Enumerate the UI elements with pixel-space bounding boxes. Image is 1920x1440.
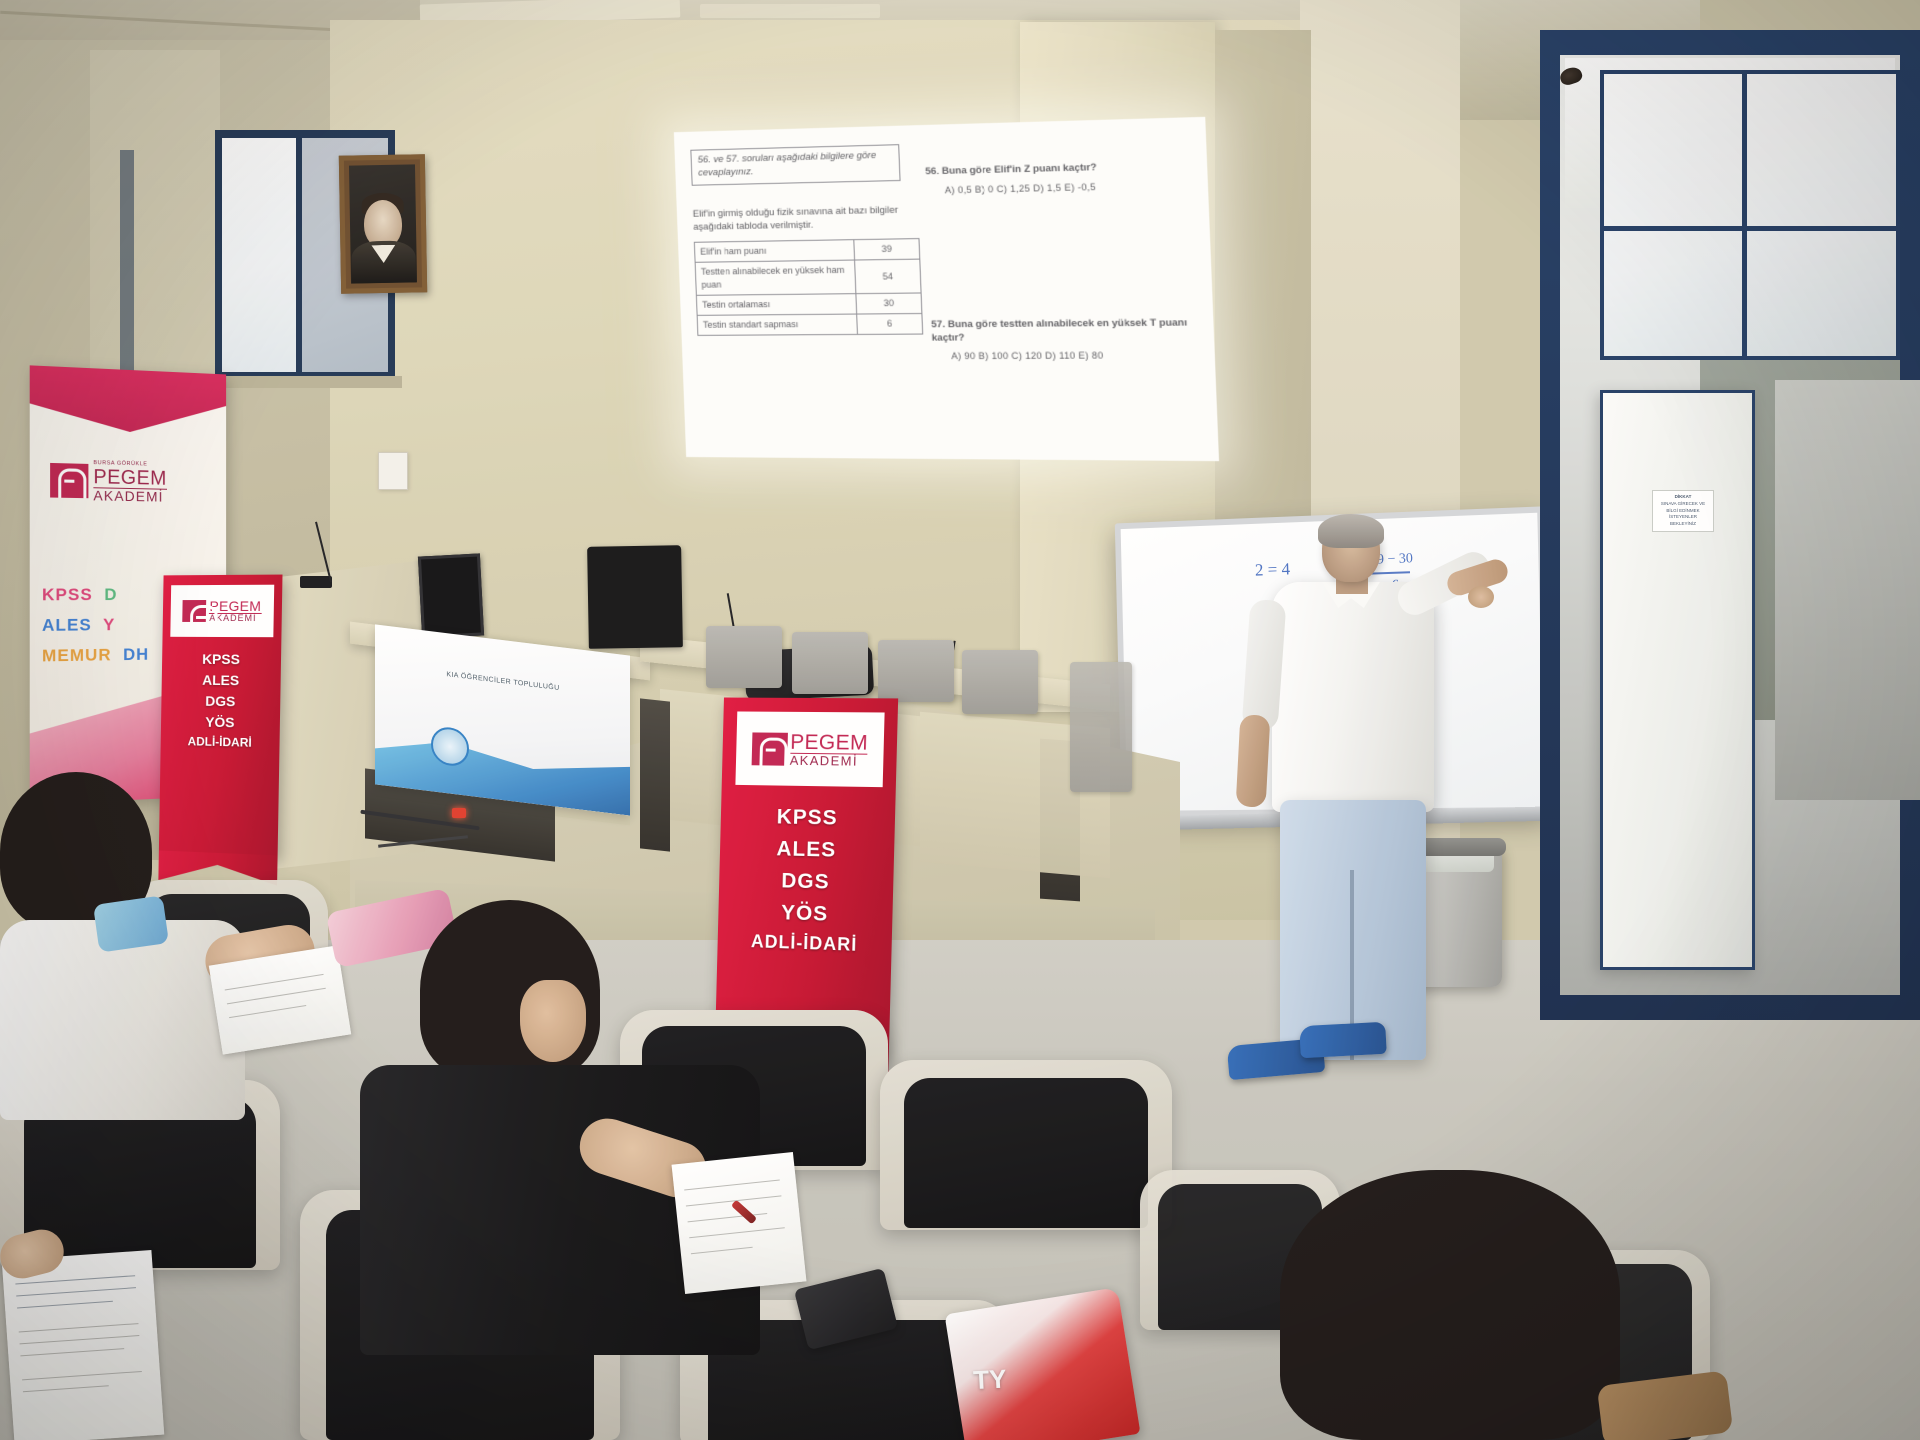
window-mullion [1742,74,1747,356]
snack-bag: TY [945,1287,1141,1440]
power-indicator [452,808,466,818]
corridor-wall [1775,380,1920,800]
course-item: D [104,585,117,604]
pegem-a-icon [50,463,88,498]
chair-back [1070,662,1132,792]
course-item: YÖS [161,711,280,734]
banner-logo: BURSA GÖRÜKLE PEGEM AKADEMİ [50,460,167,503]
slide-stem: Elif'in girmiş olduğu fizik sınavına ait… [693,203,915,234]
pennant-brand-line1: PEGEM [790,731,868,753]
microphone-base [300,576,332,588]
table-row: Testten alınabilecek en yüksek ham puan … [695,259,921,295]
chair-back [962,650,1038,714]
note-line [229,1005,306,1018]
table-cell-value: 39 [854,239,920,260]
seat-cushion [904,1078,1148,1228]
table-row: Testin standart sapması 6 [697,314,923,336]
course-item: ALES [720,832,895,868]
chair-back [587,545,683,649]
teacher-shoe [1299,1022,1387,1058]
question-options: A) 0,5 B) 0 C) 1,25 D) 1,5 E) -0,5 [945,178,1191,197]
window-sill [212,376,402,388]
note-line [684,1180,780,1191]
table-row: Testin ortalaması 30 [696,293,922,315]
pegem-a-icon [183,600,207,622]
student-hair [1280,1170,1620,1440]
question-57: 57. Buna göre testten alınabilecek en yü… [931,317,1197,364]
question-text: Buna göre testten alınabilecek en yüksek… [931,317,1187,343]
table-cell-label: Testten alınabilecek en yüksek ham puan [695,260,856,295]
slide-content: 56. ve 57. soruları aşağıdaki bilgilere … [674,117,1219,461]
table-cell-label: Testin standart sapması [697,314,857,335]
course-item: KPSS [162,649,281,671]
pennant-course-list: KPSS ALES DGS YÖS ADLİ-İDARİ [161,649,282,753]
pennant-logo: PEGEM AKADEMİ [735,711,884,787]
table-cell-label: Testin ortalaması [696,294,856,316]
slide-table: Elif'in ham puanı 39 Testten alınabilece… [694,238,923,336]
pegem-pennant: PEGEM AKADEMİ KPSS ALES DGS YÖS ADLİ-İDA… [715,698,898,1062]
pennant-brand-line1: PEGEM [209,599,261,613]
course-item: DGS [161,690,280,713]
note-line [689,1227,785,1238]
course-item: ALES [42,615,92,635]
banner-top-graphic [30,365,226,435]
table-cell-value: 54 [855,259,922,294]
course-item: ADLİ-İDARİ [717,927,892,960]
table-cell-label: Elif'in ham puanı [694,240,854,263]
note-line [22,1371,142,1380]
question-text: Buna göre Elif'in Z puanı kaçtır? [942,162,1097,177]
course-item: DGS [719,864,894,901]
course-item: MEMUR [42,645,112,665]
pegem-a-icon [751,732,787,765]
note-line [20,1348,124,1356]
note-line [691,1247,753,1254]
chair-back [706,626,782,688]
ceiling-light [700,4,880,18]
slide-questions: 56. Buna göre Elif'in Z puanı kaçtır? A)… [925,160,1197,364]
wall-note [378,452,408,490]
table-cell-value: 30 [856,293,922,314]
window-frame [120,150,134,380]
course-item: DH [123,644,149,663]
note-line [227,988,326,1005]
water-bottle [93,895,169,952]
door[interactable] [1600,390,1755,970]
tablecloth-text: KIA ÖĞRENCİLER TOPLULUĞU [403,666,603,698]
student-face [520,980,586,1062]
pegem-pennant: PEGEM AKADEMİ KPSS ALES DGS YÖS ADLİ-İDA… [159,575,283,858]
snack-label: TY [972,1363,1007,1396]
teacher-left-forearm [1236,714,1271,807]
question-options: A) 90 B) 100 C) 120 D) 110 E) 80 [951,349,1197,363]
classroom-photo: 56. ve 57. soruları aşağıdaki bilgilere … [0,0,1920,1440]
table-cell-value: 6 [857,314,923,335]
course-item: ALES [162,669,281,691]
portrait-image [349,164,417,283]
note-line [19,1323,139,1332]
note-line [15,1275,135,1284]
course-item: KPSS [721,801,896,836]
desk-panel [640,698,670,851]
teacher-shirt [1272,582,1434,812]
teacher-hand [1468,586,1494,608]
banner-brand-line2: AKADEMİ [93,487,166,503]
notepad [672,1152,807,1294]
teacher-hair [1318,514,1384,548]
course-item: ADLİ-İDARİ [161,732,280,753]
door-notice-body: SINAVA GİRECEK VE BİLGİ EDİNMEK İSTEYENL… [1656,501,1710,528]
chair-back [878,640,954,702]
pennant-logo: PEGEM AKADEMİ [170,585,274,637]
tablecloth: KIA ÖĞRENCİLER TOPLULUĞU [375,624,630,815]
door-notice: DİKKAT SINAVA GİRECEK VE BİLGİ EDİNMEK İ… [1652,490,1714,532]
note-line [225,974,324,991]
note-line [23,1385,109,1392]
whiteboard-text: 2 = 4 [1255,559,1291,580]
pennant-brand-line2: AKADEMİ [790,752,868,767]
handout [2,1250,165,1440]
note-line [17,1301,113,1309]
question-56: 56. Buna göre Elif'in Z puanı kaçtır? A)… [925,160,1190,198]
seat[interactable] [880,1060,1172,1230]
window-mullion [1604,226,1896,231]
banner-brand-line1: PEGEM [93,467,166,489]
course-item: KPSS [42,585,93,604]
note-line [16,1287,136,1296]
window-upper-right [1600,70,1900,360]
projection-screen: 56. ve 57. soruları aşağıdaki bilgilere … [674,117,1219,461]
question-number: 57. [931,319,945,330]
window-pane [222,138,296,372]
slide-instruction: 56. ve 57. soruları aşağıdaki bilgilere … [690,144,900,185]
note-line [20,1335,140,1344]
course-item: Y [103,615,115,634]
question-number: 56. [925,166,939,178]
monitor [418,553,484,638]
chair-back [792,632,868,694]
pennant-course-list: KPSS ALES DGS YÖS ADLİ-İDARİ [717,801,895,961]
door-notice-title: DİKKAT [1656,494,1710,501]
portrait-frame [339,154,427,293]
